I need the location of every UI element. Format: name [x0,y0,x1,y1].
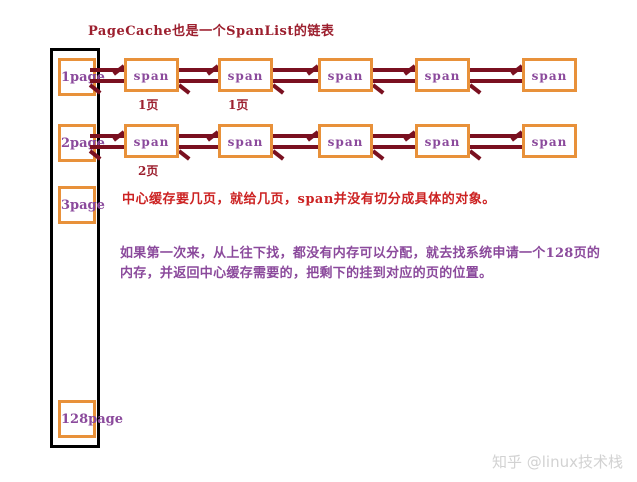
span-box-label: span [418,135,467,149]
arrow-backward-head [469,83,482,94]
page-cell: 128page [58,400,96,438]
span-box-label: span [418,69,467,83]
arrow-backward-line [470,79,522,83]
page-cell: 2page [58,124,96,162]
span-box-label: span [321,135,370,149]
arrow-backward-head [372,83,385,94]
span-box: span [124,58,179,92]
arrow-backward-line [90,145,124,149]
span-box-label: span [525,135,574,149]
watermark: 知乎 @linux技术栈 [492,451,623,472]
diagram-title: PageCache也是一个SpanList的链表 [88,20,334,39]
arrow-backward-line [273,145,318,149]
page-cell-label: 128page [61,412,123,427]
arrow-backward-head [272,149,285,160]
arrow-backward-head [272,83,285,94]
span-box-label: span [221,69,270,83]
arrow-backward-line [90,79,124,83]
span-box: span [522,124,577,158]
arrow-backward-head [178,149,191,160]
arrow-backward-line [179,79,218,83]
arrow-backward-line [373,145,415,149]
note-red-text: 中心缓存要几页，就给几页，span并没有切分成具体的对象。 [122,188,496,207]
span-box: span [124,124,179,158]
diagram-canvas: PageCache也是一个SpanList的链表 1page2page3page… [0,0,637,482]
span-box-label: span [127,69,176,83]
arrow-backward-head [372,149,385,160]
span-box: span [415,124,470,158]
arrow-backward-line [273,79,318,83]
arrow-backward-line [179,145,218,149]
span-page-count: 1页 [138,96,158,113]
arrow-backward-line [373,79,415,83]
span-box: span [318,124,373,158]
span-box-label: span [221,135,270,149]
span-box-label: span [127,135,176,149]
span-page-count: 2页 [138,162,158,179]
span-box: span [218,58,273,92]
span-box-label: span [321,69,370,83]
span-box: span [218,124,273,158]
arrow-backward-head [469,149,482,160]
span-page-count: 1页 [228,96,248,113]
note-purple-text: 如果第一次来，从上往下找，都没有内存可以分配，就去找系统申请一个128页的内存，… [120,244,610,284]
span-box: span [522,58,577,92]
arrow-backward-head [178,83,191,94]
page-list-container [50,48,100,448]
arrow-backward-line [470,145,522,149]
span-box: span [415,58,470,92]
page-cell-label: 3page [61,198,105,213]
span-box: span [318,58,373,92]
span-box-label: span [525,69,574,83]
page-cell: 1page [58,58,96,96]
page-cell: 3page [58,186,96,224]
